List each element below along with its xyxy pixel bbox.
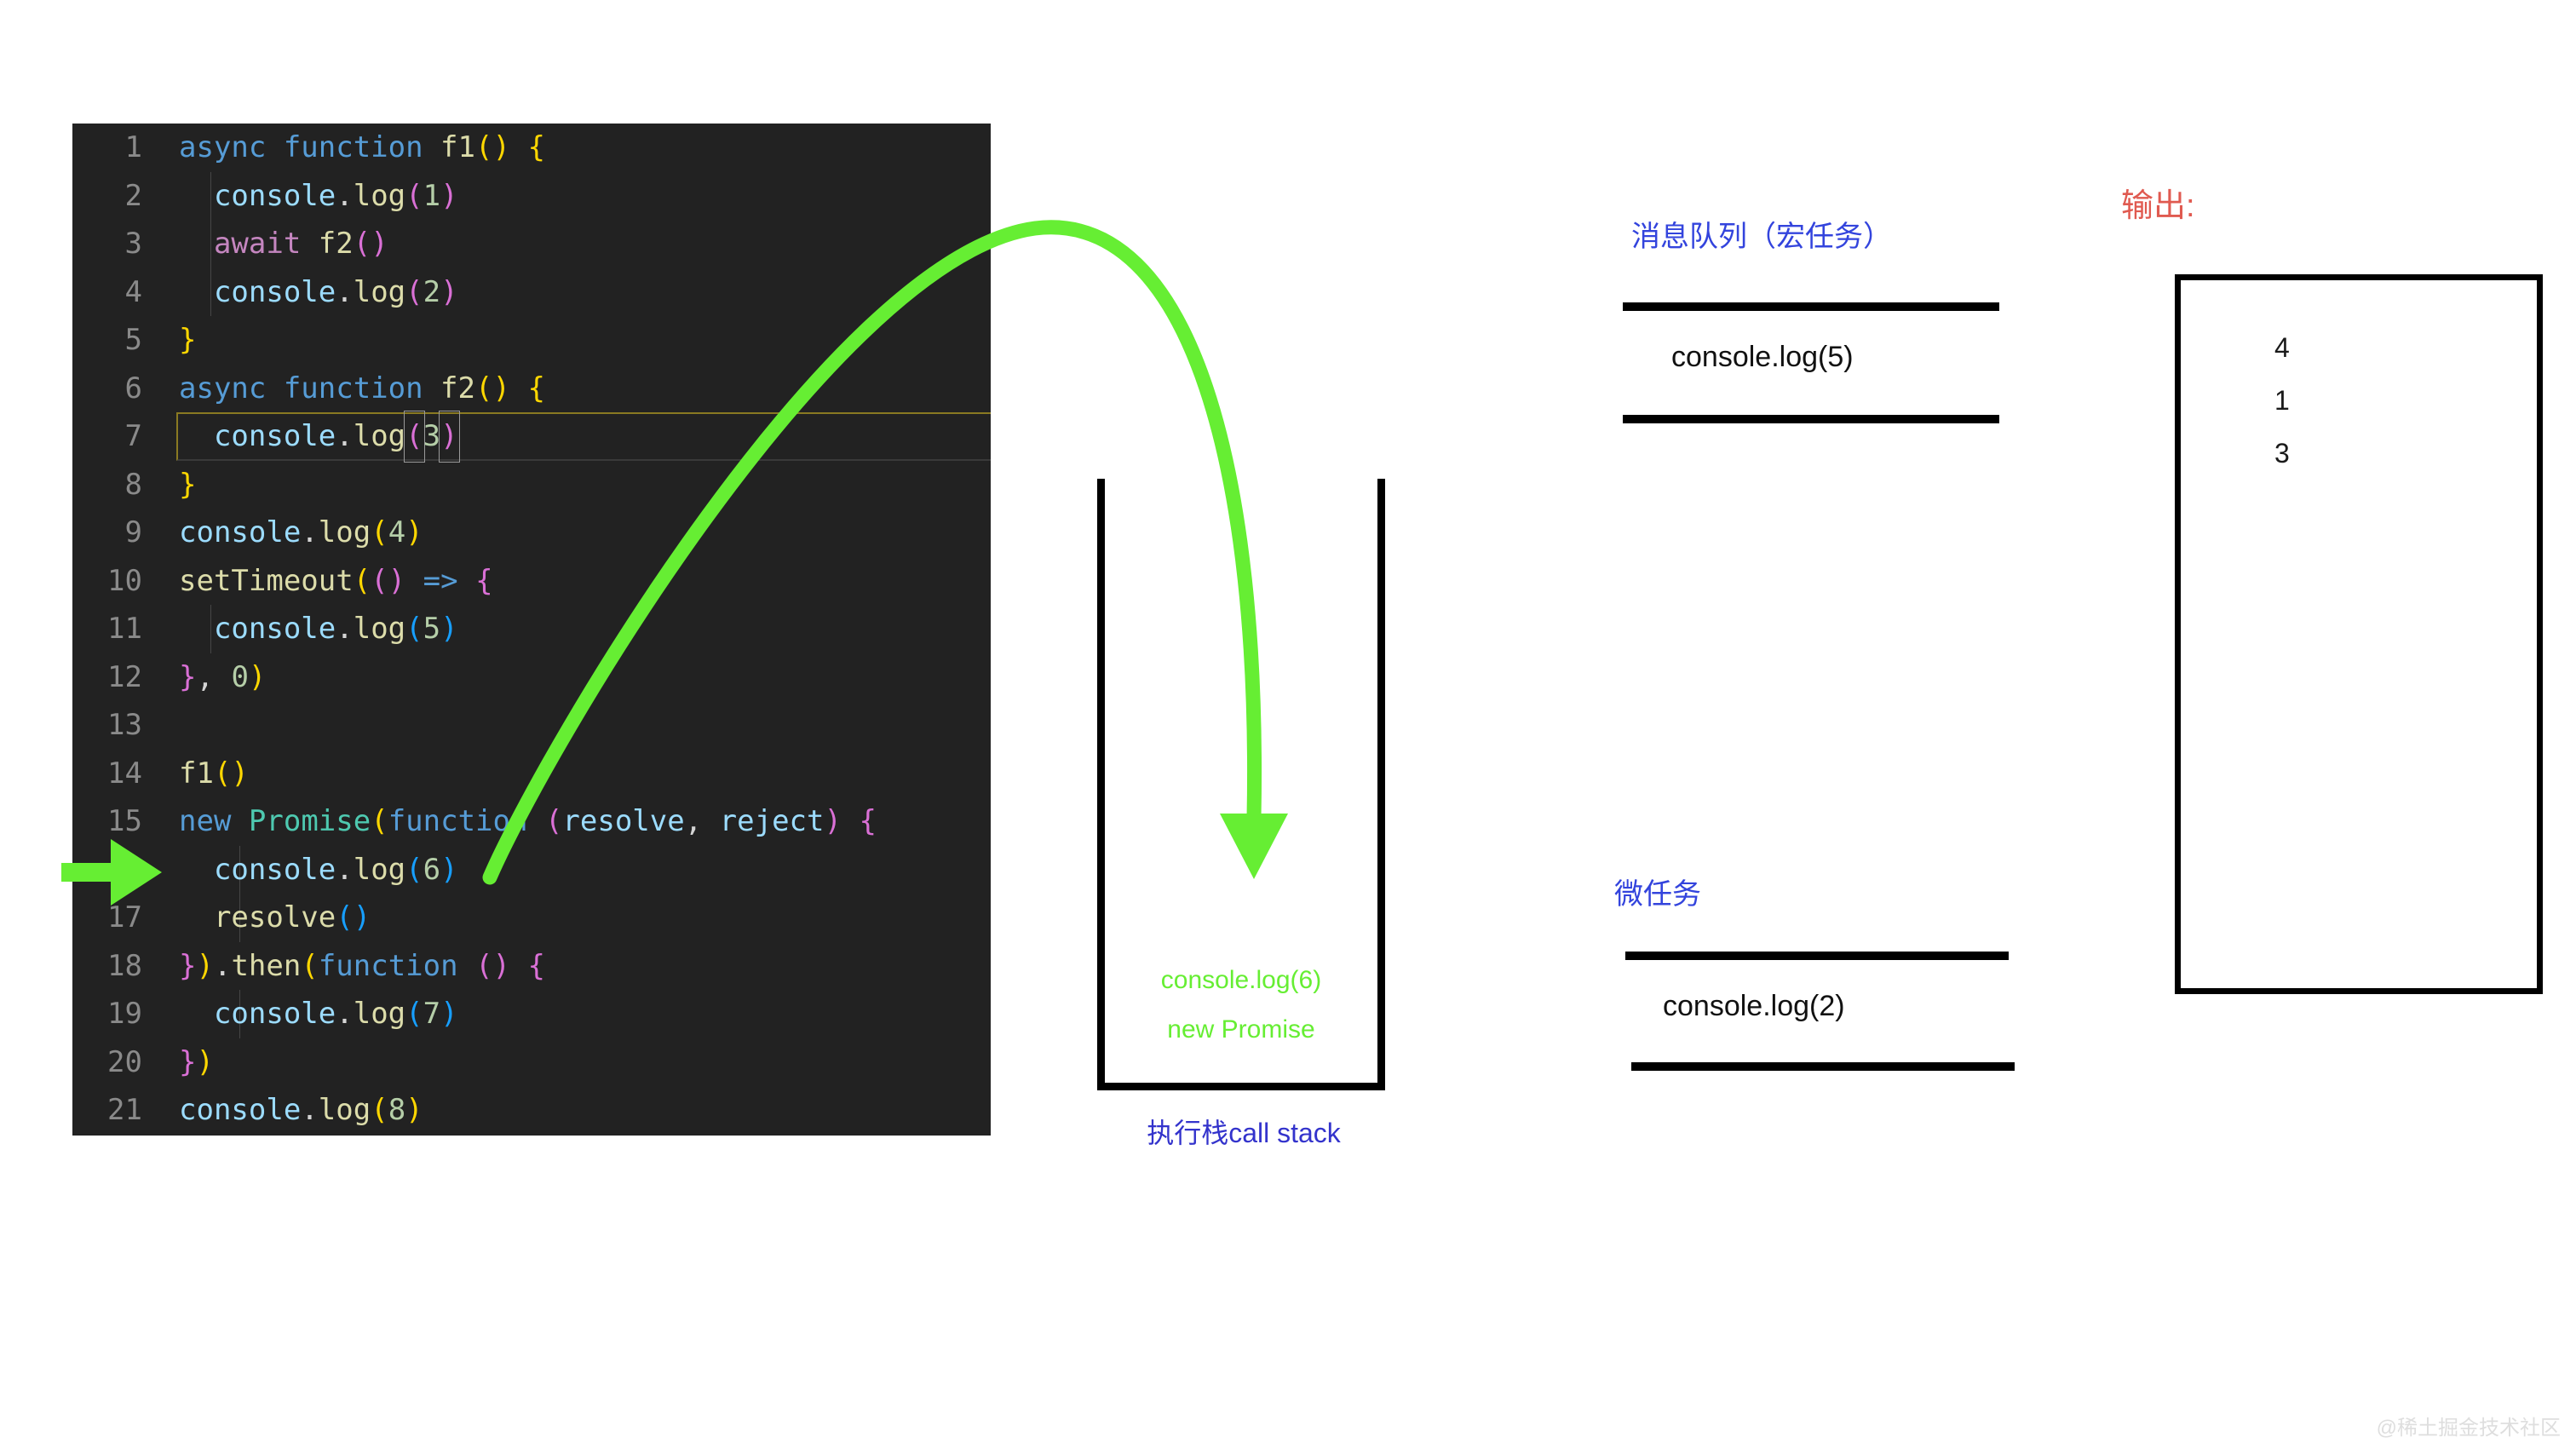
- code-line-text: console.log(8): [179, 1086, 423, 1135]
- code-line[interactable]: 18 }).then(function () {: [72, 942, 991, 991]
- code-line[interactable]: 6 async function f2() {: [72, 365, 991, 413]
- code-line[interactable]: 8 }: [72, 461, 991, 509]
- code-line[interactable]: 20 }): [72, 1038, 991, 1087]
- code-editor-panel[interactable]: 1 async function f1() { 2 console.log(1)…: [72, 124, 991, 1136]
- code-line[interactable]: 13: [72, 701, 991, 750]
- code-line[interactable]: 10 setTimeout(() => {: [72, 557, 991, 606]
- code-line-text: }, 0): [179, 653, 266, 702]
- bracket-match-close: ): [440, 412, 457, 461]
- code-line[interactable]: 4 console.log(2): [72, 268, 991, 317]
- line-number: 4: [72, 268, 147, 317]
- line-number: 7: [72, 412, 147, 461]
- bracket-match-open: (: [405, 412, 423, 461]
- code-line[interactable]: 14 f1(): [72, 750, 991, 798]
- line-number: 6: [72, 365, 147, 413]
- code-line[interactable]: 9 console.log(4): [72, 509, 991, 557]
- macrotask-queue-title: 消息队列（宏任务）: [1631, 213, 1892, 255]
- microtask-queue-rail-top: [1625, 952, 2009, 960]
- code-line-text: console.log(6): [179, 846, 458, 894]
- call-stack-item: new Promise: [1097, 1005, 1385, 1055]
- output-line: 4: [2274, 321, 2290, 374]
- output-line: 3: [2274, 427, 2290, 480]
- code-line[interactable]: 5 }: [72, 316, 991, 365]
- code-line-text: await f2(): [179, 220, 388, 268]
- call-stack-label: 执行栈call stack: [1073, 1112, 1414, 1151]
- line-number: 18: [72, 942, 147, 991]
- output-line: 1: [2274, 374, 2290, 427]
- code-line-pointed[interactable]: 16 console.log(6): [72, 846, 991, 894]
- code-line-text: console.log(2): [179, 268, 458, 317]
- line-number: 13: [72, 701, 147, 750]
- code-line-text: console.log(4): [179, 509, 423, 557]
- code-line[interactable]: 11 console.log(5): [72, 605, 991, 653]
- microtask-queue-title: 微任务: [1614, 871, 1701, 912]
- code-line[interactable]: 12 }, 0): [72, 653, 991, 702]
- microtask-queue-rail-bottom: [1631, 1062, 2015, 1071]
- code-line-text: new Promise(function (resolve, reject) {: [179, 797, 877, 846]
- line-number: 20: [72, 1038, 147, 1087]
- code-line-text: console.log(5): [179, 605, 458, 653]
- line-number: 12: [72, 653, 147, 702]
- line-number: 5: [72, 316, 147, 365]
- line-number: 8: [72, 461, 147, 509]
- code-line[interactable]: 17 resolve(): [72, 894, 991, 942]
- line-number: 15: [72, 797, 147, 846]
- line-number: 3: [72, 220, 147, 268]
- code-line[interactable]: 19 console.log(7): [72, 990, 991, 1038]
- line-number: 19: [72, 990, 147, 1038]
- call-stack-item: console.log(6): [1097, 956, 1385, 1005]
- output-list: 4 1 3: [2274, 321, 2290, 480]
- macrotask-queue-item: console.log(5): [1671, 341, 1854, 374]
- macrotask-queue-rail-top: [1623, 302, 1999, 311]
- microtask-queue-item: console.log(2): [1663, 990, 1845, 1023]
- code-line-text: f1(): [179, 750, 249, 798]
- output-box: 4 1 3: [2175, 274, 2543, 994]
- code-line-text: console.log(7): [179, 990, 458, 1038]
- code-line[interactable]: 21 console.log(8): [72, 1086, 991, 1135]
- code-line-text: async function f2() {: [179, 365, 545, 413]
- macrotask-queue-rail-bottom: [1623, 415, 1999, 423]
- code-line[interactable]: 3 await f2(): [72, 220, 991, 268]
- call-stack-floor: [1097, 1083, 1385, 1090]
- line-number: 14: [72, 750, 147, 798]
- line-number: 16: [72, 846, 147, 894]
- code-line-text: }): [179, 1038, 214, 1087]
- code-line-text: console.log(1): [179, 172, 458, 221]
- line-number: 17: [72, 894, 147, 942]
- watermark: @稀土掘金技术社区: [2377, 1411, 2561, 1440]
- diagram-canvas: 1 async function f1() { 2 console.log(1)…: [0, 0, 2576, 1449]
- line-number: 11: [72, 605, 147, 653]
- line-number: 10: [72, 557, 147, 606]
- line-number: 9: [72, 509, 147, 557]
- code-line-current[interactable]: 7 console.log(3): [72, 412, 991, 461]
- code-line[interactable]: 1 async function f1() {: [72, 124, 991, 172]
- code-line-text: async function f1() {: [179, 124, 545, 172]
- code-line-text: }: [179, 461, 196, 509]
- line-number: 1: [72, 124, 147, 172]
- code-line-text: console.log(3): [179, 412, 458, 461]
- code-line-text: resolve(): [179, 894, 371, 942]
- code-line-text: }: [179, 316, 196, 365]
- code-line-text: setTimeout(() => {: [179, 557, 493, 606]
- call-stack-container: console.log(6) new Promise: [1097, 479, 1385, 1090]
- call-stack-items: console.log(6) new Promise: [1097, 956, 1385, 1055]
- code-line[interactable]: 2 console.log(1): [72, 172, 991, 221]
- line-number: 21: [72, 1086, 147, 1135]
- code-line[interactable]: 15 new Promise(function (resolve, reject…: [72, 797, 991, 846]
- code-line-text: }).then(function () {: [179, 942, 545, 991]
- output-title: 输出:: [2121, 179, 2195, 226]
- line-number: 2: [72, 172, 147, 221]
